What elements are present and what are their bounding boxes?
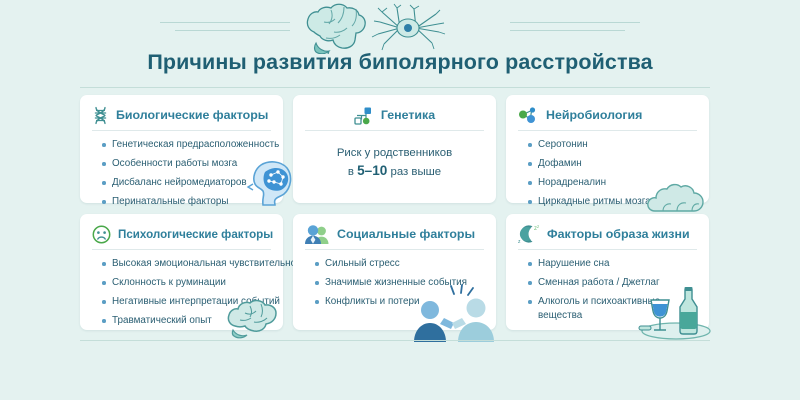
svg-text:z: z: [537, 224, 540, 229]
card-list: Нарушение сна Сменная работа / Джетлаг А…: [518, 257, 697, 322]
list-item: Перинатальные факторы: [102, 195, 271, 209]
card-divider: [518, 130, 697, 131]
header: Причины развития биполярного расстройств…: [0, 0, 800, 88]
neuron-illustration: [372, 4, 445, 50]
list-item: Травматический опыт: [102, 314, 271, 328]
divider-bottom: [80, 340, 710, 341]
card-header: Социальные факторы: [305, 223, 484, 245]
header-rule-left-2: [175, 30, 290, 31]
list-item: Конфликты и потери: [315, 295, 484, 309]
list-item: Негативные интерпретации событий: [102, 295, 271, 309]
card-title: Генетика: [381, 108, 435, 122]
stat-prefix: в: [348, 166, 357, 178]
brain-and-neuron-illustration: [296, 2, 504, 54]
stat-line-2: в 5–10 раз выше: [337, 162, 452, 181]
card-psychological[interactable]: Психологические факторы Высокая эмоциона…: [80, 214, 283, 330]
infographic-canvas: Причины развития биполярного расстройств…: [0, 0, 800, 400]
cards-grid: Биологические факторы Генетическая предр…: [80, 95, 710, 330]
divider-top: [80, 87, 710, 88]
moon-icon: z z z: [518, 224, 540, 244]
card-divider: [305, 249, 484, 250]
list-item: Значимые жизненные события: [315, 276, 484, 290]
header-rule-left-1: [160, 22, 290, 23]
card-title: Биологические факторы: [116, 108, 268, 122]
list-item: Сильный стресс: [315, 257, 484, 271]
stat-line-1: Риск у родственников: [337, 145, 452, 162]
genetics-stat: Риск у родственников в 5–10 раз выше: [337, 145, 452, 181]
dna-icon: [92, 106, 109, 125]
cards-row-top: Биологические факторы Генетическая предр…: [80, 95, 710, 203]
card-title: Психологические факторы: [118, 228, 273, 241]
card-title: Нейробиология: [546, 108, 642, 122]
molecule-icon: [518, 106, 539, 124]
card-header: Нейробиология: [518, 104, 697, 126]
list-item: Особенности работы мозга: [102, 157, 271, 171]
brain-illustration: [307, 4, 365, 54]
card-header: Психологические факторы: [92, 223, 271, 245]
card-divider: [518, 249, 697, 250]
card-title: Факторы образа жизни: [547, 227, 690, 241]
stat-suffix: раз выше: [387, 166, 441, 178]
list-item: Склонность к руминации: [102, 276, 271, 290]
card-list: Серотонин Дофамин Норадреналин Циркадные…: [518, 138, 697, 209]
card-lifestyle[interactable]: z z z Факторы образа жизни Нарушение сна…: [506, 214, 709, 330]
list-item: Циркадные ритмы мозга: [528, 195, 697, 209]
list-item: Высокая эмоциональная чувствительность: [102, 257, 271, 271]
cards-row-bottom: Психологические факторы Высокая эмоциона…: [80, 214, 710, 330]
sad-face-icon: [92, 225, 111, 244]
card-divider: [305, 130, 484, 131]
page-title: Причины развития биполярного расстройств…: [0, 50, 800, 75]
svg-text:z: z: [518, 239, 521, 244]
list-item: Нарушение сна: [528, 257, 697, 271]
card-header: Генетика: [354, 104, 435, 126]
card-title: Социальные факторы: [337, 227, 475, 241]
card-header: z z z Факторы образа жизни: [518, 223, 697, 245]
list-item: Серотонин: [528, 138, 697, 152]
stat-value: 5–10: [357, 163, 387, 178]
card-list: Генетическая предрасположенность Особенн…: [92, 138, 271, 209]
card-biological[interactable]: Биологические факторы Генетическая предр…: [80, 95, 283, 203]
list-item: Дофамин: [528, 157, 697, 171]
list-item: Сменная работа / Джетлаг: [528, 276, 697, 290]
card-list: Сильный стресс Значимые жизненные событи…: [305, 257, 484, 309]
list-item: Дисбаланс нейромедиаторов: [102, 176, 271, 190]
card-social[interactable]: Социальные факторы Сильный стресс Значим…: [293, 214, 496, 330]
list-item: Норадреналин: [528, 176, 697, 190]
header-rule-right-1: [510, 22, 640, 23]
card-divider: [92, 249, 271, 250]
list-item: Алкоголь и психоактивные вещества: [528, 295, 678, 322]
card-genetics[interactable]: Генетика Риск у родственников в 5–10 раз…: [293, 95, 496, 203]
header-rule-right-2: [510, 30, 625, 31]
list-item: Генетическая предрасположенность: [102, 138, 271, 152]
people-icon: [305, 224, 330, 244]
pedigree-icon: [354, 106, 374, 125]
card-divider: [92, 130, 271, 131]
card-list: Высокая эмоциональная чувствительность С…: [92, 257, 271, 328]
card-neurobiology[interactable]: Нейробиология Серотонин Дофамин Норадрен…: [506, 95, 709, 203]
card-header: Биологические факторы: [92, 104, 271, 126]
